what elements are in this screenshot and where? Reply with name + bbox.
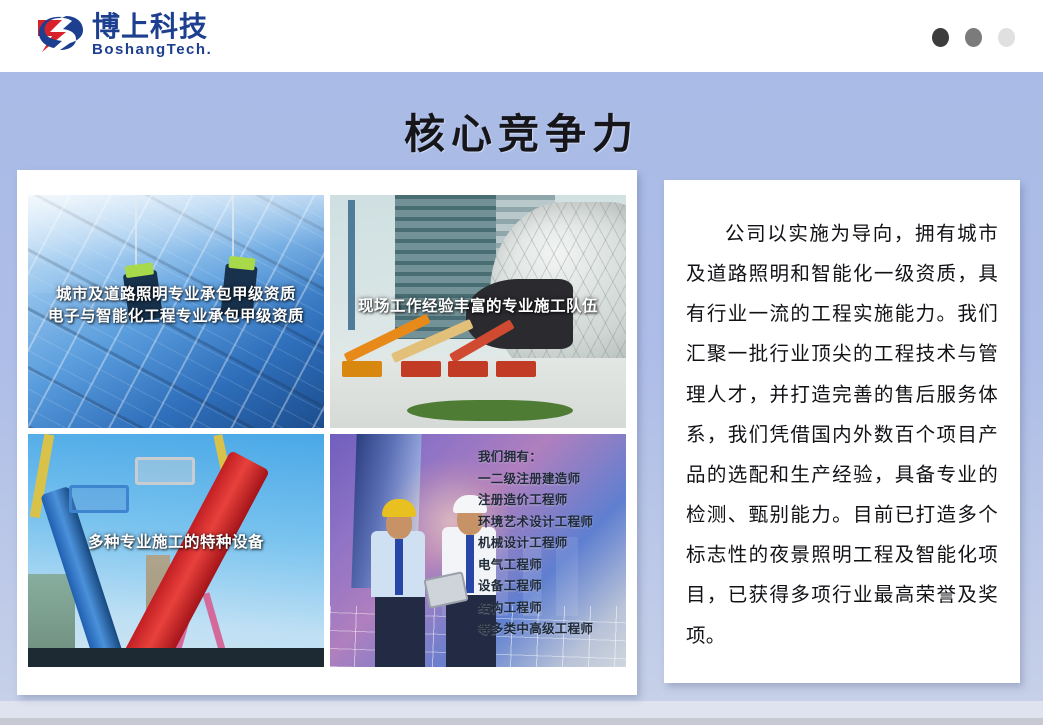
lift-base-icon (496, 361, 536, 377)
pager-dot-1[interactable] (932, 28, 949, 47)
lift-base-icon (401, 361, 441, 377)
pager-dot-2[interactable] (965, 28, 982, 47)
lawn-shape (407, 400, 573, 421)
list-item: 注册造价工程师 (478, 489, 620, 511)
ground-line (28, 648, 324, 667)
description-card: 公司以实施为导向，拥有城市及道路照明和智能化一级资质，具有行业一流的工程实施能力… (664, 180, 1020, 683)
list-item: 设备工程师 (478, 575, 620, 597)
list-item: 机械设计工程师 (478, 532, 620, 554)
lift-basket-icon (135, 457, 195, 485)
tile-caption-line: 电子与智能化工程专业承包甲级资质 (28, 305, 324, 327)
pagination-dots[interactable] (932, 28, 1015, 47)
tile-glass-curtain-wall[interactable]: 城市及道路照明专业承包甲级资质 电子与智能化工程专业承包甲级资质 (28, 195, 324, 428)
tile-caption-line: 多种专业施工的特种设备 (28, 531, 324, 553)
description-paragraph: 公司以实施为导向，拥有城市及道路照明和智能化一级资质，具有行业一流的工程实施能力… (686, 214, 998, 656)
tile-caption-line: 现场工作经验丰富的专业施工队伍 (330, 295, 626, 317)
tile-construction-site[interactable]: 现场工作经验丰富的专业施工队伍 (330, 195, 626, 428)
logo-english-name: BoshangTech. (92, 42, 212, 59)
list-title: 我们拥有： (478, 446, 620, 468)
rope-icon (135, 195, 137, 272)
tile-engineering-team[interactable]: 我们拥有： 一二级注册建造师 注册造价工程师 环境艺术设计工程师 机械设计工程师… (330, 434, 626, 667)
brand-logo[interactable]: 博上科技 BoshangTech. (36, 12, 212, 59)
lift-base-icon (342, 361, 382, 377)
boshang-logo-icon (36, 12, 86, 58)
logo-chinese-name: 博上科技 (92, 12, 212, 41)
list-item: 结构工程师 (478, 597, 620, 619)
list-item: 一二级注册建造师 (478, 468, 620, 490)
list-item: 环境艺术设计工程师 (478, 511, 620, 533)
lift-basket-icon (69, 485, 129, 513)
sky-glare (28, 195, 324, 293)
lift-base-icon (448, 361, 488, 377)
page-title: 核心竞争力 (0, 100, 1043, 160)
tile-special-equipment[interactable]: 多种专业施工的特种设备 (28, 434, 324, 667)
tile-caption-line: 城市及道路照明专业承包甲级资质 (28, 283, 324, 305)
list-item: 等多类中高级工程师 (478, 618, 620, 640)
trousers (375, 589, 425, 667)
tile-caption: 城市及道路照明专业承包甲级资质 电子与智能化工程专业承包甲级资质 (28, 283, 324, 328)
logo-wordmark: 博上科技 BoshangTech. (92, 12, 212, 59)
rope-icon (232, 195, 234, 265)
necktie (466, 535, 474, 593)
tile-caption: 现场工作经验丰富的专业施工队伍 (330, 295, 626, 317)
list-item: 电气工程师 (478, 554, 620, 576)
pager-dot-3[interactable] (998, 28, 1015, 47)
tile-caption: 多种专业施工的特种设备 (28, 531, 324, 553)
page-header: 博上科技 BoshangTech. (0, 0, 1043, 72)
footer-edge (0, 718, 1043, 725)
photo-collage-card: 城市及道路照明专业承包甲级资质 电子与智能化工程专业承包甲级资质 (17, 170, 637, 695)
photo-grid: 城市及道路照明专业承包甲级资质 电子与智能化工程专业承包甲级资质 (28, 195, 626, 673)
qualification-list: 我们拥有： 一二级注册建造师 注册造价工程师 环境艺术设计工程师 机械设计工程师… (478, 446, 620, 640)
slide-page: 博上科技 BoshangTech. 核心竞争力 城市及道路照 (0, 0, 1043, 725)
necktie (395, 539, 403, 595)
footer-band (0, 701, 1043, 718)
